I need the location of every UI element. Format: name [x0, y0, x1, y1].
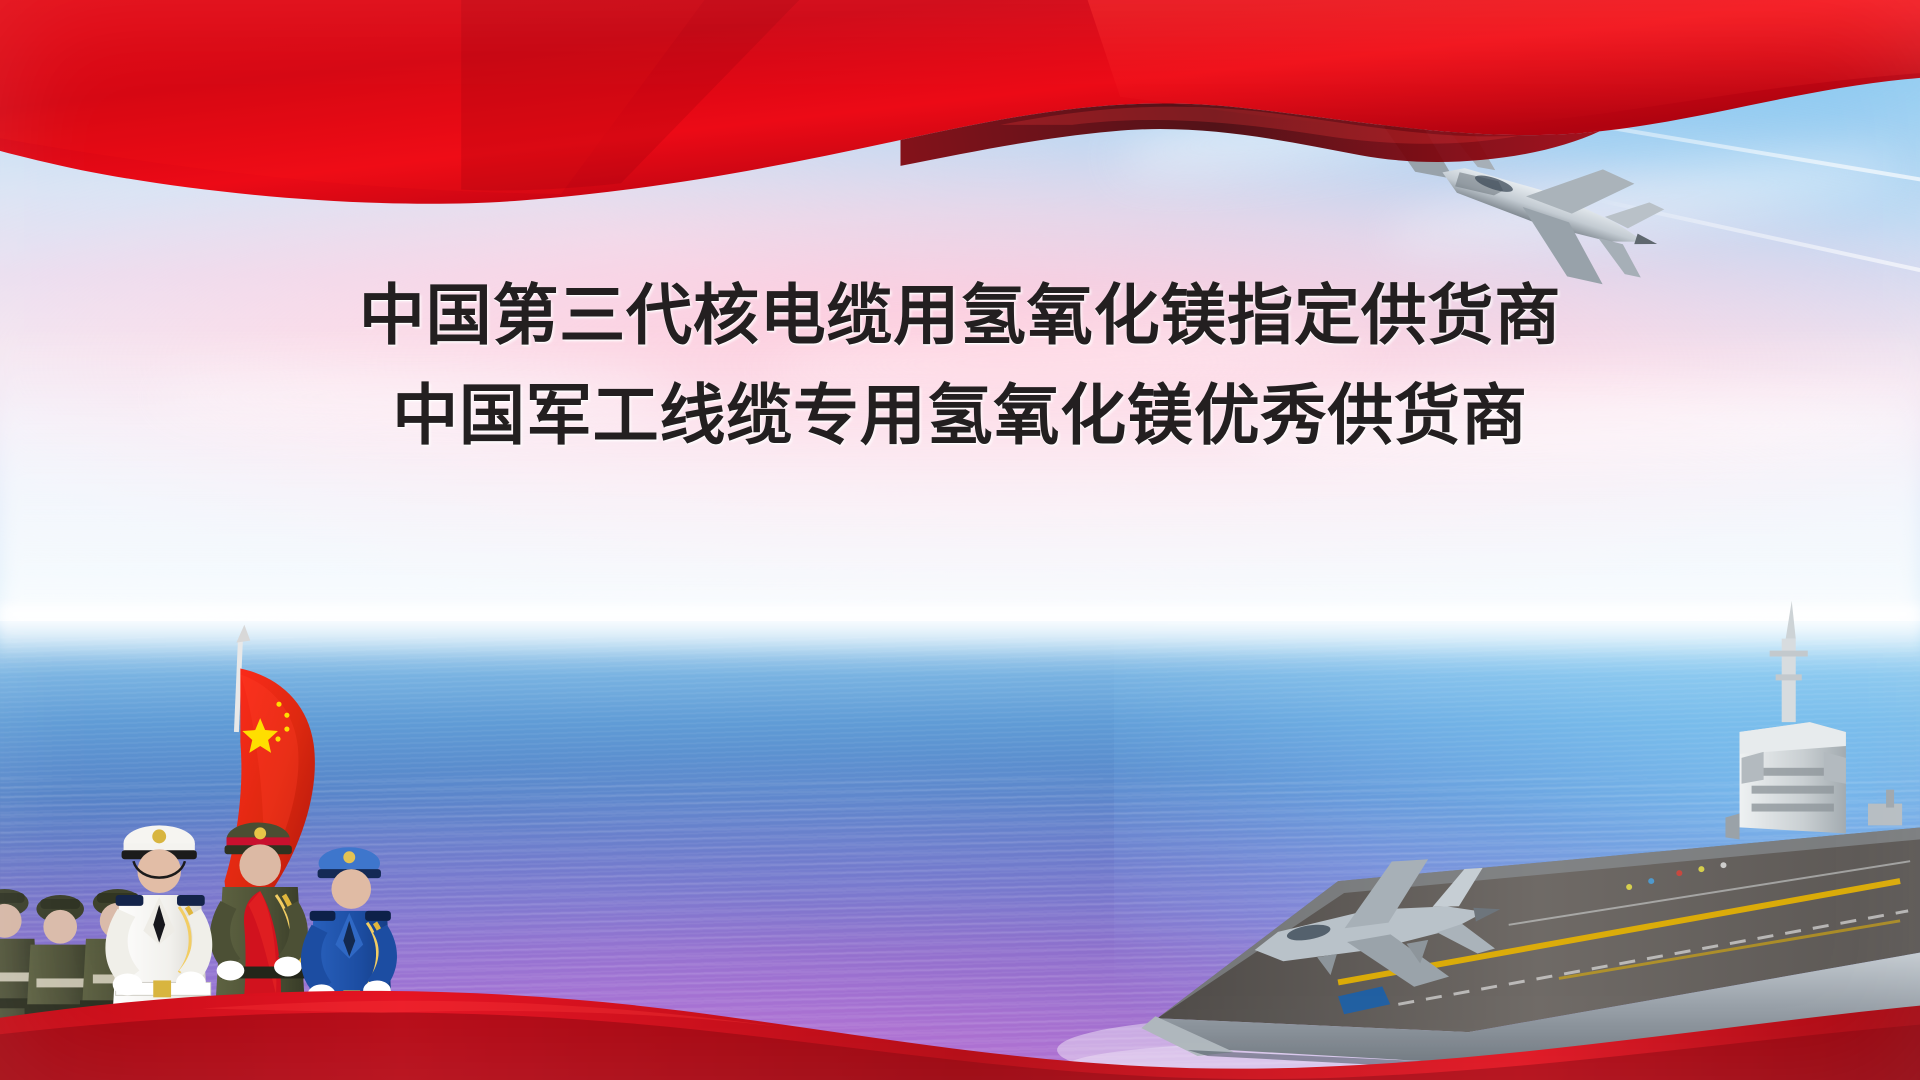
promotional-banner: 中国第三代核电缆用氢氧化镁指定供货商 中国军工线缆专用氢氧化镁优秀供货商: [0, 0, 1920, 1080]
headline-line-1: 中国第三代核电缆用氢氧化镁指定供货商: [0, 265, 1920, 365]
headline-line-2: 中国军工线缆专用氢氧化镁优秀供货商: [0, 365, 1920, 465]
army-flag-bearer: [210, 823, 310, 1080]
fighter-jets: [1037, 0, 1920, 302]
fighter-jet: [1258, 7, 1527, 195]
carrier-island: [1725, 601, 1845, 839]
honor-guard-formation: [0, 583, 614, 1080]
headline-block: 中国第三代核电缆用氢氧化镁指定供货商 中国军工线缆专用氢氧化镁优秀供货商: [0, 265, 1920, 466]
air-force-officer: [301, 847, 397, 1080]
navy-officer: [105, 826, 212, 1080]
aircraft-carrier: [1037, 583, 1920, 1080]
